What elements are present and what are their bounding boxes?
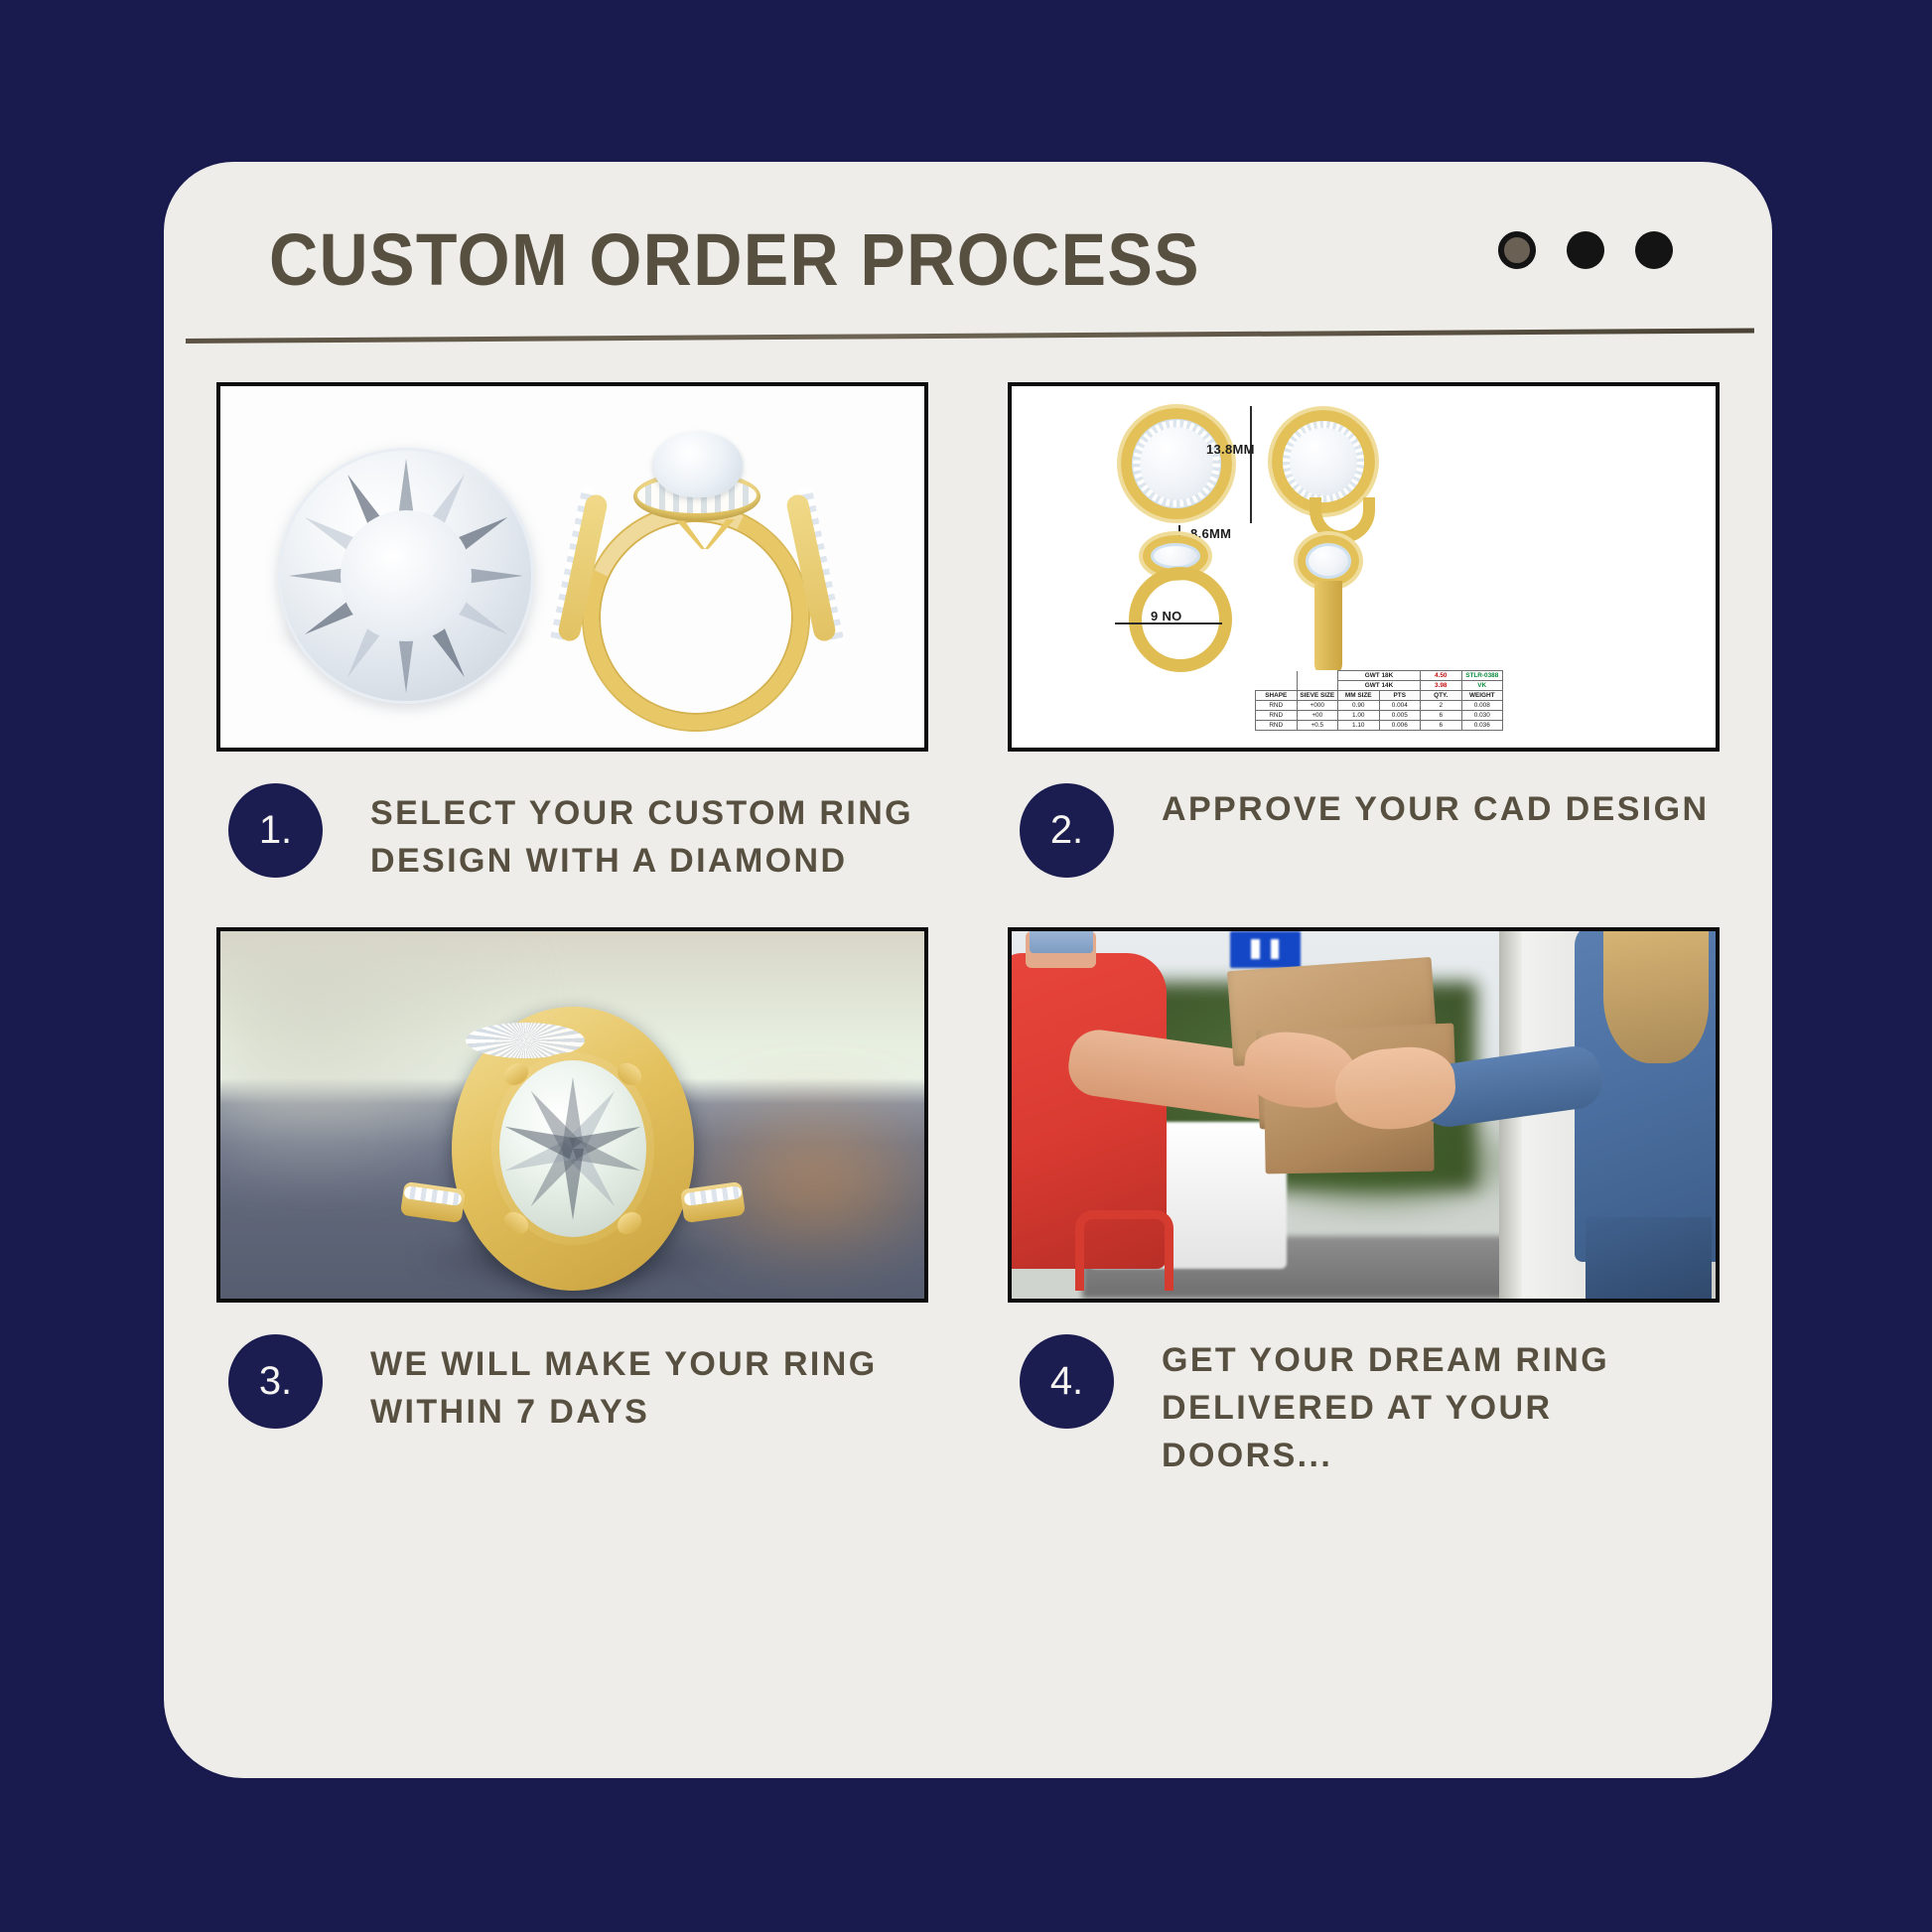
- street-sign-icon: [1230, 931, 1301, 968]
- step-3-caption: 3. WE WILL MAKE YOUR RING WITHIN 7 DAYS: [216, 1334, 928, 1437]
- step-1-image: [216, 382, 928, 752]
- cad-style-code: STLR-0388: [1461, 671, 1503, 681]
- step-1-text: SELECT YOUR CUSTOM RING DESIGN WITH A DI…: [370, 789, 928, 886]
- cad-style-initials: VK: [1461, 681, 1503, 691]
- step-3-badge: 3.: [228, 1334, 323, 1429]
- dim-label-outer: 13.8MM: [1206, 442, 1255, 457]
- infographic-canvas: CUSTOM ORDER PROCESS: [0, 0, 1932, 1932]
- window-dot-one-icon[interactable]: [1498, 231, 1536, 269]
- window-controls: [1498, 231, 1673, 269]
- step-1-badge: 1.: [228, 783, 323, 878]
- page-title: CUSTOM ORDER PROCESS: [269, 217, 1200, 302]
- step-2-caption: 2. APPROVE YOUR CAD DESIGN: [1008, 783, 1720, 878]
- cad-table-row: RND +00 1.00 0.005 6 0.030: [1256, 711, 1503, 721]
- cad-drawing: 13.8MM 8.6MM 9 NO: [1012, 386, 1716, 748]
- cad-table-row: RND +000 0.90 0.004 2 0.008: [1256, 701, 1503, 711]
- step-4-image: [1008, 927, 1720, 1303]
- loose-diamond-icon: [278, 448, 534, 704]
- window-dot-three-icon[interactable]: [1635, 231, 1673, 269]
- content-card: CUSTOM ORDER PROCESS: [164, 162, 1772, 1778]
- dim-line-outer: [1250, 406, 1252, 523]
- step-3-image: [216, 927, 928, 1303]
- cad-th-mm: MM SIZE: [1338, 691, 1380, 701]
- gwt-18k-value: 4.50: [1421, 671, 1462, 681]
- dim-label-inner: 8.6MM: [1190, 526, 1231, 541]
- gwt-14k-value: 3.98: [1421, 681, 1462, 691]
- window-dot-two-icon[interactable]: [1567, 231, 1604, 269]
- finished-ring-photo: [220, 931, 924, 1299]
- gold-halo-ring-side-view: [548, 428, 846, 746]
- step-card-1: 1. SELECT YOUR CUSTOM RING DESIGN WITH A…: [216, 382, 928, 886]
- cad-th-qty: QTY.: [1421, 691, 1462, 701]
- cad-th-shape: SHAPE: [1256, 691, 1298, 701]
- step-card-4: 4. GET YOUR DREAM RING DELIVERED AT YOUR…: [1008, 927, 1720, 1480]
- step-3-text: WE WILL MAKE YOUR RING WITHIN 7 DAYS: [370, 1340, 928, 1437]
- cad-th-sieve: SIEVE SIZE: [1297, 691, 1338, 701]
- cad-th-weight: WEIGHT: [1461, 691, 1503, 701]
- dim-label-ring-size: 9 NO: [1151, 609, 1182, 623]
- cad-spec-table: GWT 18K 4.50 STLR-0388 GWT 14K 3.98 VK: [1255, 670, 1503, 731]
- step-2-image: 13.8MM 8.6MM 9 NO: [1008, 382, 1720, 752]
- diamond-and-ring-illustration: [220, 386, 924, 748]
- delivery-photo: [1012, 931, 1716, 1299]
- step-4-text: GET YOUR DREAM RING DELIVERED AT YOUR DO…: [1162, 1336, 1720, 1480]
- hand-truck-icon: [1075, 1210, 1173, 1291]
- steps-grid: 1. SELECT YOUR CUSTOM RING DESIGN WITH A…: [216, 382, 1720, 1479]
- cad-view-profile-head: [1298, 535, 1359, 587]
- cad-table-row: RND +0.5 1.10 0.006 6 0.036: [1256, 721, 1503, 731]
- card-header: CUSTOM ORDER PROCESS: [164, 162, 1772, 370]
- title-divider: [186, 329, 1754, 344]
- cad-view-profile-shank: [1314, 581, 1342, 676]
- face-mask-icon: [1030, 931, 1093, 953]
- step-4-badge: 4.: [1020, 1334, 1114, 1429]
- cad-th-pts: PTS: [1379, 691, 1421, 701]
- gwt-18k-label: GWT 18K: [1338, 671, 1421, 681]
- step-1-caption: 1. SELECT YOUR CUSTOM RING DESIGN WITH A…: [216, 783, 928, 886]
- step-2-text: APPROVE YOUR CAD DESIGN: [1162, 785, 1709, 833]
- gwt-14k-label: GWT 14K: [1338, 681, 1421, 691]
- step-card-3: 3. WE WILL MAKE YOUR RING WITHIN 7 DAYS: [216, 927, 928, 1480]
- step-4-caption: 4. GET YOUR DREAM RING DELIVERED AT YOUR…: [1008, 1334, 1720, 1480]
- step-2-badge: 2.: [1020, 783, 1114, 878]
- step-card-2: 13.8MM 8.6MM 9 NO: [1008, 382, 1720, 886]
- gold-halo-ring-icon: [452, 1007, 694, 1291]
